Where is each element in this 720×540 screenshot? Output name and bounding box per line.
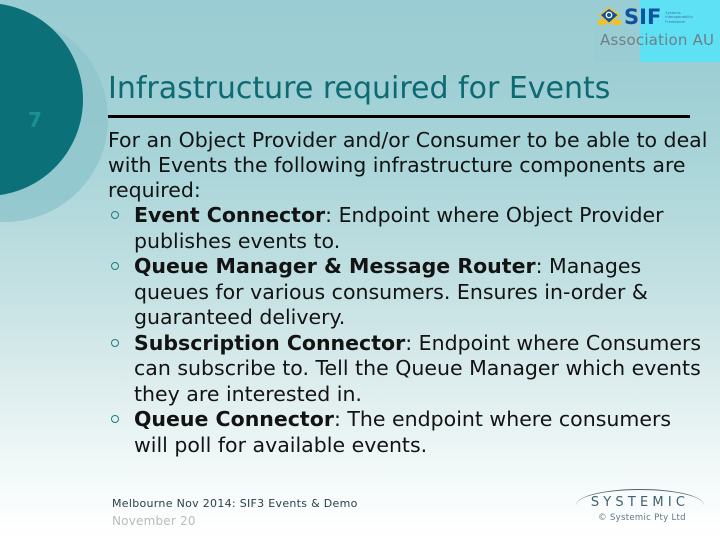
systemic-logo: SYSTEMIC © Systemic Pty Ltd	[570, 489, 712, 531]
sif-logo-row: SIF Systems Interoperability Framework	[598, 6, 705, 28]
list-item: Queue Connector: The endpoint where cons…	[108, 407, 708, 458]
sif-association-logo: SIF Systems Interoperability Framework A…	[594, 0, 720, 62]
footer-event-line: Melbourne Nov 2014: SIF3 Events & Demo	[112, 497, 358, 510]
intro-paragraph: For an Object Provider and/or Consumer t…	[108, 128, 708, 203]
bullet-separator: :	[536, 254, 549, 278]
systemic-wordmark: SYSTEMIC	[576, 495, 704, 510]
slide-canvas: 7 SIF Systems Interoperability Framework…	[0, 0, 720, 540]
bullet-circle-icon	[111, 262, 119, 270]
slide-body: For an Object Provider and/or Consumer t…	[108, 128, 708, 458]
bullet-separator: :	[334, 407, 347, 431]
systemic-copyright: © Systemic Pty Ltd	[576, 513, 708, 523]
bullet-separator: :	[405, 331, 418, 355]
bullet-circle-icon	[111, 415, 119, 423]
bullet-term: Subscription Connector	[134, 331, 405, 355]
footer-date-line: November 20	[112, 514, 196, 528]
bullet-term: Queue Manager & Message Router	[134, 254, 536, 278]
slide-number: 7	[22, 108, 48, 132]
page-title: Infrastructure required for Events	[108, 72, 696, 106]
title-divider	[108, 115, 690, 118]
list-item: Queue Manager & Message Router: Manages …	[108, 254, 708, 331]
sif-tagline: Systems Interoperability Framework	[665, 11, 705, 25]
list-item: Subscription Connector: Endpoint where C…	[108, 331, 708, 408]
sif-association-subtitle: Association AU	[600, 31, 714, 49]
bullet-term: Event Connector	[134, 203, 325, 227]
sif-diamond-icon	[598, 6, 622, 28]
bullet-circle-icon	[111, 211, 119, 219]
list-item: Event Connector: Endpoint where Object P…	[108, 203, 708, 254]
bullet-separator: :	[325, 203, 338, 227]
bullet-term: Queue Connector	[134, 407, 334, 431]
bullet-list: Event Connector: Endpoint where Object P…	[108, 203, 708, 458]
sif-wordmark: SIF	[624, 7, 661, 28]
bullet-circle-icon	[111, 339, 119, 347]
